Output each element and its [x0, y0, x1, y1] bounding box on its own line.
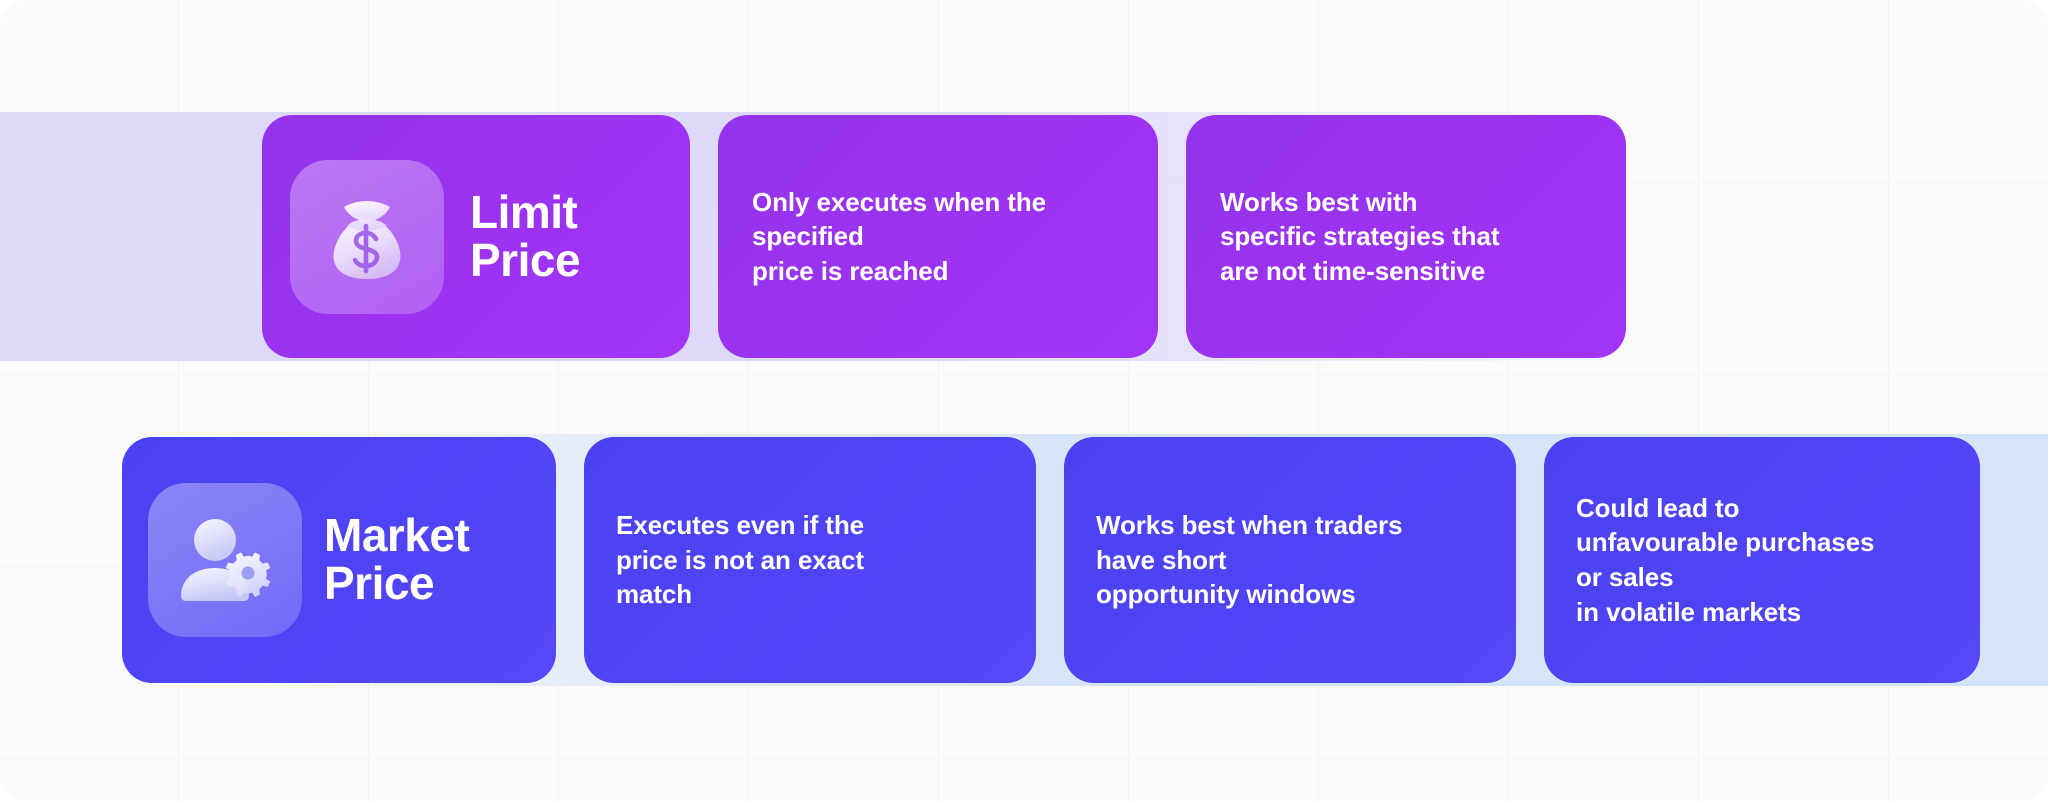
market-price-card-3-text: Could lead to unfavourable purchases or … — [1576, 491, 1874, 629]
market-price-row: Market Price Executes even if the price … — [122, 437, 1980, 683]
market-price-label-card[interactable]: Market Price — [122, 437, 556, 683]
limit-price-card-1[interactable]: Only executes when the specified price i… — [718, 115, 1158, 358]
market-price-title: Market Price — [324, 512, 469, 608]
limit-price-card-2-text: Works best with specific strategies that… — [1220, 185, 1499, 289]
market-price-card-3[interactable]: Could lead to unfavourable purchases or … — [1544, 437, 1980, 683]
market-price-card-2-text: Works best when traders have short oppor… — [1096, 508, 1402, 612]
limit-price-row: Limit Price Only executes when the speci… — [262, 115, 1626, 358]
market-price-card-1-text: Executes even if the price is not an exa… — [616, 508, 864, 612]
limit-price-label-card[interactable]: Limit Price — [262, 115, 690, 358]
market-price-card-2[interactable]: Works best when traders have short oppor… — [1064, 437, 1516, 683]
user-gear-icon — [148, 483, 302, 637]
limit-price-card-2[interactable]: Works best with specific strategies that… — [1186, 115, 1626, 358]
money-bag-icon — [290, 160, 444, 314]
market-price-card-1[interactable]: Executes even if the price is not an exa… — [584, 437, 1036, 683]
limit-price-title: Limit Price — [470, 189, 580, 285]
limit-price-card-1-text: Only executes when the specified price i… — [752, 185, 1124, 289]
infographic-page: Limit Price Only executes when the speci… — [0, 0, 2048, 801]
